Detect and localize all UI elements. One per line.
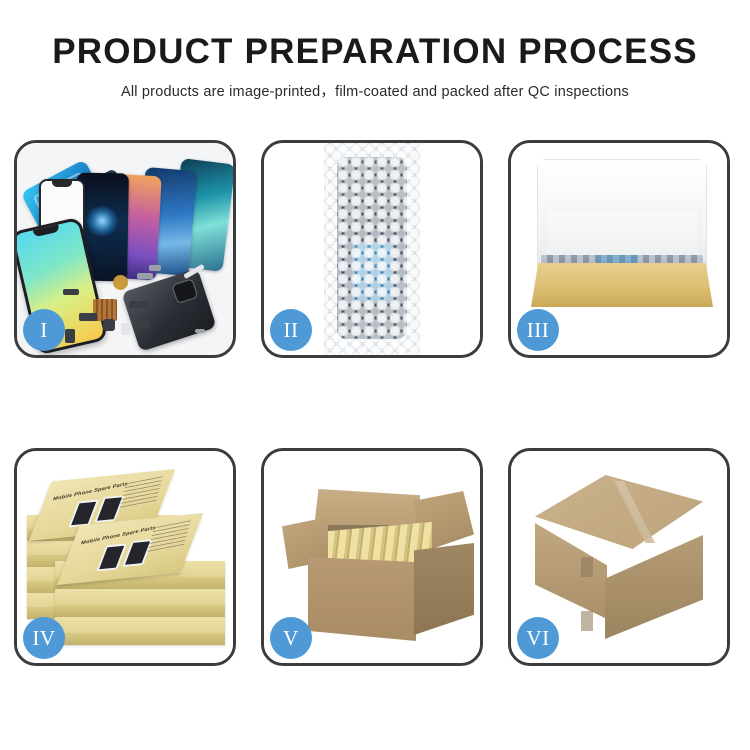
phone-back-housing-icon — [121, 268, 216, 352]
small-part-icon — [63, 289, 79, 295]
screwdriver-bit-icon — [195, 329, 205, 333]
vibrator-icon — [103, 319, 115, 331]
step-badge-5: V — [270, 617, 312, 659]
stacked-box — [55, 589, 225, 617]
page-header: PRODUCT PREPARATION PROCESS All products… — [0, 0, 750, 101]
earpiece-icon — [135, 319, 149, 329]
button-flex-icon — [137, 273, 153, 279]
page-title: PRODUCT PREPARATION PROCESS — [0, 34, 750, 71]
carton-front-face-icon — [308, 557, 416, 641]
camera-module-icon — [79, 313, 97, 321]
product-preparation-process-page: PRODUCT PREPARATION PROCESS All products… — [0, 0, 750, 750]
speaker-part-icon — [113, 275, 128, 290]
carton-right-face-icon — [414, 543, 474, 635]
sealed-carton-right-face-icon — [605, 535, 703, 639]
carton-seam-tab-top-icon — [581, 557, 593, 577]
process-step-panel-2[interactable]: II — [261, 140, 483, 358]
step-badge-6: VI — [517, 617, 559, 659]
process-step-panel-1[interactable]: I — [14, 140, 236, 358]
process-step-grid: I II III — [14, 140, 736, 666]
sim-tray-icon — [121, 323, 130, 335]
kraft-mailer-base-icon — [531, 263, 713, 307]
step-badge-4: IV — [23, 617, 65, 659]
step-badge-1: I — [23, 309, 65, 351]
process-step-panel-6[interactable]: VI — [508, 448, 730, 666]
process-step-panel-4[interactable]: Mobile Phone Spare Parts Mobile Phone Sp… — [14, 448, 236, 666]
step-badge-2: II — [270, 309, 312, 351]
bubble-wrap-bag-icon — [324, 143, 420, 355]
process-step-panel-3[interactable]: III — [508, 140, 730, 358]
process-step-panel-5[interactable]: V — [261, 448, 483, 666]
carton-seam-tab-bottom-icon — [581, 611, 593, 631]
flex-cable-icon — [129, 301, 149, 308]
bubble-texture-overlay-icon — [324, 143, 420, 355]
page-subtitle: All products are image-printed，film-coat… — [0, 80, 750, 101]
stacked-box — [55, 617, 225, 645]
step-badge-3: III — [517, 309, 559, 351]
sealed-carton-left-face-icon — [535, 523, 607, 619]
volume-flex-icon — [149, 265, 161, 271]
screw-set-icon — [65, 329, 75, 343]
